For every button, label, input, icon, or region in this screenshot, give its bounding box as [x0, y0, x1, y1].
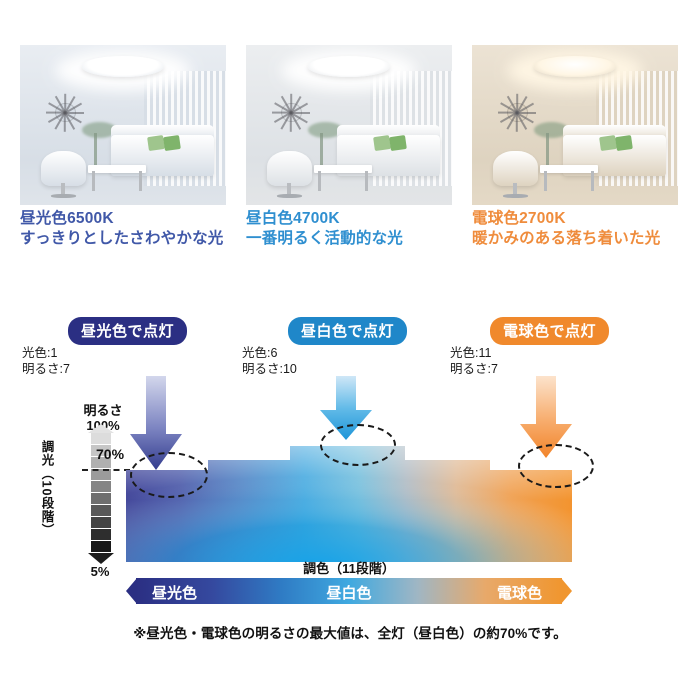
callout-ellipse-neutral-white — [320, 424, 396, 466]
light-color-value-daylight: 光色:1 — [22, 346, 70, 362]
plant-stem — [94, 133, 96, 168]
room-photo-daylight — [20, 45, 226, 205]
brightness-value-neutral-white: 明るさ:10 — [242, 362, 297, 378]
badge-daylight-mode: 昼光色で点灯 — [68, 317, 187, 345]
badge-bulb-color-mode: 電球色で点灯 — [490, 317, 609, 345]
values-bulb-color-mode: 光色:11 明るさ:7 — [450, 346, 498, 377]
room-photo-bulb-color — [472, 45, 678, 205]
callout-ellipse-daylight — [130, 452, 208, 498]
swan-chair — [493, 151, 538, 186]
photo-subtitle-bulb-color: 暖かみのある落ち着いた光 — [472, 229, 700, 249]
room-photo-neutral-white — [246, 45, 452, 205]
scale-axis-label: 調光（10段階） — [40, 440, 53, 537]
photo-caption-bulb-color: 電球色2700K 暖かみのある落ち着いた光 — [472, 209, 700, 250]
light-color-value-neutral-white: 光色:6 — [242, 346, 297, 362]
photo-cell-daylight: 昼光色6500K すっきりとしたさわやかな光 — [20, 45, 226, 205]
plant-stem — [546, 133, 548, 168]
chair-base — [277, 194, 302, 198]
swan-chair — [41, 151, 86, 186]
coffee-table — [88, 165, 146, 173]
table-leg-right — [365, 171, 367, 190]
scale-top-arrow-icon — [88, 424, 114, 433]
photo-subtitle-neutral-white: 一番明るく活動的な光 — [246, 229, 486, 249]
values-neutral-white-mode: 光色:6 明るさ:10 — [242, 346, 297, 377]
scale-segment — [91, 529, 111, 541]
dimming-scale — [88, 424, 114, 564]
table-leg-right — [139, 171, 141, 190]
wall-clock — [281, 103, 302, 123]
brightness-value-daylight: 明るさ:7 — [22, 362, 70, 378]
tone-steps-caption: 調色（11段階） — [126, 558, 572, 577]
photo-caption-neutral-white: 昼白色4700K 一番明るく活動的な光 — [246, 209, 486, 250]
table-leg-left — [544, 171, 546, 190]
photo-row: 昼光色6500K すっきりとしたさわやかな光 昼白色4700K 一番明るく活動的… — [20, 45, 680, 205]
swan-chair — [267, 151, 312, 186]
photo-subtitle-daylight: すっきりとしたさわやかな光 — [20, 229, 260, 249]
scale-bottom-arrow-icon — [88, 553, 114, 564]
brightness-value-bulb-color: 明るさ:7 — [450, 362, 498, 378]
coffee-table — [540, 165, 598, 173]
table-leg-left — [92, 171, 94, 190]
footnote-text: ※昼光色・電球色の明るさの最大値は、全灯（昼白色）の約70%です。 — [0, 622, 700, 642]
color-temperature-bar: 昼光色 昼白色 電球色 — [126, 578, 572, 604]
scale-min-label: 5% — [70, 564, 130, 579]
photo-caption-daylight: 昼光色6500K すっきりとしたさわやかな光 — [20, 209, 260, 250]
scale-segment — [91, 433, 111, 445]
plant-stem — [320, 133, 322, 168]
chair-base — [503, 194, 528, 198]
table-leg-right — [591, 171, 593, 190]
photo-cell-bulb-color: 電球色2700K 暖かみのある落ち着いた光 — [472, 45, 678, 205]
wall-clock — [507, 103, 528, 123]
chair-base — [51, 194, 76, 198]
scale-title: 明るさ — [58, 404, 148, 419]
wall-clock — [55, 103, 76, 123]
table-leg-left — [318, 171, 320, 190]
bar-label-daylight: 昼光色 — [152, 582, 197, 603]
scale-segment — [91, 493, 111, 505]
scale-segment — [91, 541, 111, 553]
scale-70-dashed-line — [82, 469, 130, 471]
badge-neutral-white-mode: 昼白色で点灯 — [288, 317, 407, 345]
photo-title-daylight: 昼光色6500K — [20, 209, 260, 229]
ceiling-light-fixture — [308, 56, 390, 77]
coffee-table — [314, 165, 372, 173]
ceiling-light-fixture — [82, 56, 164, 77]
bar-label-neutral-white: 昼白色 — [326, 582, 371, 603]
values-daylight-mode: 光色:1 明るさ:7 — [22, 346, 70, 377]
scale-segment — [91, 505, 111, 517]
photo-title-neutral-white: 昼白色4700K — [246, 209, 486, 229]
callout-ellipse-bulb-color — [518, 444, 594, 488]
scale-segment — [91, 481, 111, 493]
photo-cell-neutral-white: 昼白色4700K 一番明るく活動的な光 — [246, 45, 452, 205]
scale-segment — [91, 517, 111, 529]
photo-title-bulb-color: 電球色2700K — [472, 209, 700, 229]
bar-label-bulb-color: 電球色 — [497, 582, 542, 603]
bar-right-arrow-icon — [561, 578, 572, 604]
light-color-value-bulb-color: 光色:11 — [450, 346, 498, 362]
scale-mid-label: 70% — [96, 446, 124, 462]
ceiling-light-fixture — [534, 56, 616, 77]
